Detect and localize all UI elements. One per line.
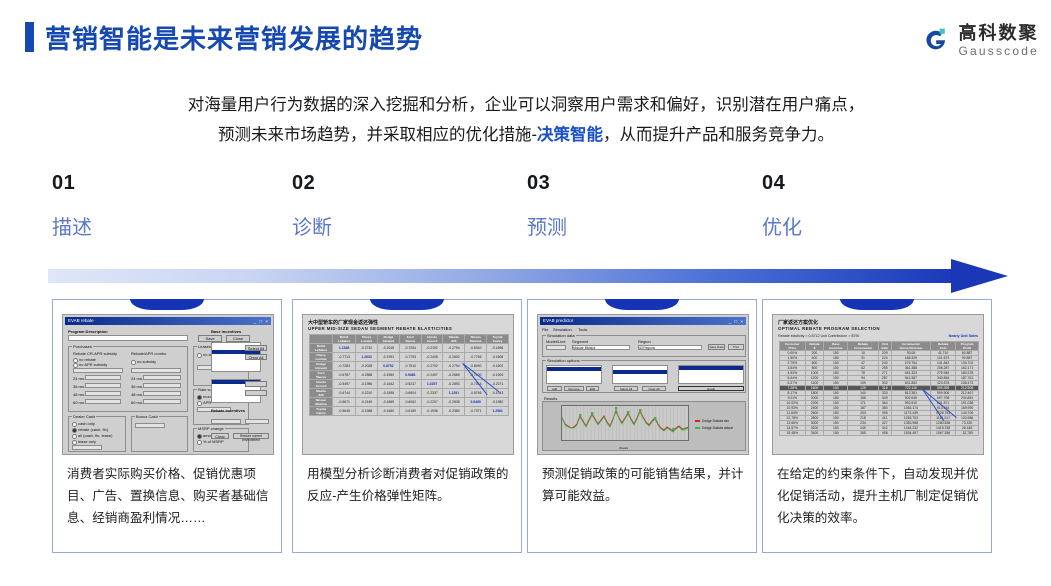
radio-label[interactable]: rebate (cash, fin) xyxy=(78,427,108,432)
matrix-subtitle: UPPER MID-SIZE SEDAN SEGMENT REBATE ELAS… xyxy=(308,326,452,331)
gausscode-logo-icon xyxy=(921,25,951,55)
logo-text-cn: 高科数聚 xyxy=(958,24,1039,42)
group-label: Model/Line xyxy=(546,339,566,344)
step-label: 优化 xyxy=(762,211,962,240)
rate-label: 36 mo. xyxy=(131,384,143,389)
group-label: Rebate incentives xyxy=(211,408,245,413)
clear-all-button-2[interactable] xyxy=(245,390,267,396)
group-label: MSRP change xyxy=(197,426,225,431)
card-caption: 预测促销政策的可能销售结果，并计算可能效益。 xyxy=(542,463,744,507)
correlation-footnote: (Correlation = 0.96386) xyxy=(548,454,583,455)
card-tab xyxy=(130,299,204,310)
remove-button[interactable]: Remove xyxy=(564,386,584,391)
legend-item-actual: Dodge Dakota actual xyxy=(695,426,733,430)
progress-arrow-head xyxy=(951,259,1008,293)
step-label: 描述 xyxy=(52,211,252,240)
logo-text-en: Gausscode xyxy=(958,45,1039,57)
step-02: 02 诊断 xyxy=(292,172,492,240)
rate-label: 24 mo. xyxy=(131,376,143,381)
prediction-plot xyxy=(561,405,689,441)
add-button[interactable]: Add xyxy=(547,386,562,391)
brand-logo: 高科数聚 Gausscode xyxy=(921,18,1039,62)
lead-line-2-b: ，从而提升产品和服务竞争力。 xyxy=(603,126,834,144)
group-label: Region xyxy=(638,339,651,344)
graph-button[interactable]: Graph xyxy=(678,386,744,391)
step-04: 04 优化 xyxy=(762,172,962,240)
card-caption: 在给定的约束条件下，自动发现并优化促销活动，提升主机厂制定促销优化决策的效率。 xyxy=(777,463,979,529)
menu-simulation[interactable]: Simulation xyxy=(553,327,572,332)
progress-arrow xyxy=(48,262,1008,292)
group-label: Rebate/APR combo xyxy=(131,351,166,356)
step-label: 诊断 xyxy=(292,211,492,240)
matrix-title: 大中型轿车的厂家现金返还弹性 xyxy=(308,319,378,326)
save-data-button[interactable]: Save Data xyxy=(708,344,725,350)
results-list[interactable] xyxy=(678,365,744,384)
step-03: 03 预测 xyxy=(527,172,727,240)
group-label: Simulation options xyxy=(546,358,581,363)
group-label: Program Description xyxy=(68,329,108,334)
lead-paragraph: 对海量用户行为数据的深入挖掘和分析，企业可以洞察用户需求和偏好，识别潜在用户痛点… xyxy=(50,90,1002,150)
card-screenshot-chart: EVAB predictor_ □ × File Simulation Tool… xyxy=(537,314,749,455)
clear-all-button[interactable]: Clear All xyxy=(245,354,267,360)
card-tab xyxy=(605,299,679,310)
group-label: Dealer Cash xyxy=(72,414,96,419)
optimal-meta-left: Rebate elasticity = 0.8712 Unit Contribu… xyxy=(778,334,859,338)
optimal-subtitle: OPTIMAL REBATE PROGRAM SELECTION xyxy=(778,326,880,331)
optimal-rebate-table: CustomerPriceRebate$BaseIncentiveRebateI… xyxy=(779,341,979,436)
card-tab xyxy=(840,299,914,310)
edit-button[interactable]: Edit xyxy=(586,386,599,391)
region-value: All Regions xyxy=(639,346,655,350)
rate-label: 48 mo. xyxy=(131,392,143,397)
group-label: Segment xyxy=(572,339,588,344)
card-screenshot-matrix: 大中型轿车的厂家现金返还弹性 UPPER MID-SIZE SEDAN SEGM… xyxy=(302,314,514,455)
chart-xlabel: Weeks xyxy=(619,446,628,450)
window-title: EVAB rebate xyxy=(68,318,94,323)
menu-tools[interactable]: Tools xyxy=(578,327,587,332)
group-label: Bonus Cash xyxy=(135,414,159,419)
clear-button[interactable]: Clear xyxy=(211,433,229,439)
card-04[interactable]: 厂家返还方案优化 OPTIMAL REBATE PROGRAM SELECTIO… xyxy=(762,299,992,553)
radio-label[interactable]: no subsidy xyxy=(137,359,156,364)
step-number: 01 xyxy=(52,172,252,195)
restore-button[interactable]: Restore current environment xyxy=(233,433,269,439)
simulation-list[interactable] xyxy=(546,365,602,384)
window-controls: _ □ × xyxy=(729,318,744,325)
step-number: 02 xyxy=(292,172,492,195)
print-button[interactable]: Print xyxy=(728,344,744,350)
radio-label[interactable]: all (cash, fin, lease) xyxy=(78,433,112,438)
card-02[interactable]: 大中型轿车的厂家现金返还弹性 UPPER MID-SIZE SEDAN SEGM… xyxy=(292,299,522,553)
lead-line-1: 对海量用户行为数据的深入挖掘和分析，企业可以洞察用户需求和偏好，识别潜在用户痛点… xyxy=(188,96,865,114)
card-screenshot-optimal: 厂家返还方案优化 OPTIMAL REBATE PROGRAM SELECTIO… xyxy=(772,314,984,455)
group-label: Rebate CR-APR subsidy xyxy=(73,351,117,356)
card-screenshot-dialog: EVAB rebate_ □ × Program Description Sav… xyxy=(62,314,274,455)
group-label: Base incentives xyxy=(211,329,241,334)
rate-label: 48 mo. xyxy=(73,392,85,397)
page-title: 营销智能是未来营销发展的趋势 xyxy=(45,19,423,56)
progress-arrow-bar xyxy=(48,269,960,283)
lead-line-2-a: 预测未来市场趋势，并采取相应的优化措施- xyxy=(218,126,537,144)
slide-header: 营销智能是未来营销发展的趋势 高科数聚 Gausscode xyxy=(0,0,1051,72)
step-labels: 01 描述 02 诊断 03 预测 04 优化 xyxy=(0,172,1051,252)
options-list[interactable] xyxy=(612,365,668,384)
slide: 营销智能是未来营销发展的趋势 高科数聚 Gausscode 对海量用户行为数据的… xyxy=(0,0,1051,586)
segment-value: Midsize Midsize xyxy=(573,346,596,350)
radio-label[interactable]: cash only xyxy=(78,421,95,426)
rate-label: 36 mo. xyxy=(73,384,85,389)
rate-label: 60 mo. xyxy=(131,400,143,405)
group-label: Purchases xyxy=(72,344,93,349)
select-all-button-2[interactable] xyxy=(245,381,267,387)
card-caption: 消费者实际购买价格、促销优惠项目、广告、置换信息、购买者基础信息、经销商盈利情况… xyxy=(67,463,269,529)
title-accent-bar xyxy=(25,22,34,52)
clear-all-button[interactable]: Clear All xyxy=(642,386,666,391)
card-caption: 用模型分析诊断消费者对促销政策的反应-产生价格弹性矩阵。 xyxy=(307,463,509,507)
lead-highlight: 决策智能 xyxy=(537,126,603,144)
optimal-title: 厂家返还方案优化 xyxy=(778,319,818,326)
close-button[interactable]: Close xyxy=(226,335,250,342)
rate-label: 24 mo. xyxy=(73,376,85,381)
step-number: 04 xyxy=(762,172,962,195)
group-label: Simulation data xyxy=(546,333,576,338)
card-tab xyxy=(370,299,444,310)
radio-label[interactable]: % of MSRP xyxy=(203,439,224,444)
radio-label[interactable]: no APR subsidy xyxy=(79,362,107,367)
select-all-button[interactable]: Select All xyxy=(245,345,267,351)
step-number: 03 xyxy=(527,172,727,195)
legend-item-sim: Dodge Dakota sim xyxy=(695,419,729,423)
optimal-meta-right: Nearly Unit Sales xyxy=(949,334,978,338)
save-button[interactable]: Save xyxy=(198,335,222,342)
window-title: EVAB predictor xyxy=(543,318,573,323)
select-all-button[interactable]: Select All xyxy=(614,386,638,391)
card-03[interactable]: EVAB predictor_ □ × File Simulation Tool… xyxy=(527,299,757,553)
group-label: Leases xyxy=(197,344,212,349)
radio-label[interactable]: lease only xyxy=(78,439,96,444)
menu-file[interactable]: File xyxy=(542,327,548,332)
step-label: 预测 xyxy=(527,211,727,240)
radio-label[interactable]: APR xyxy=(203,400,211,405)
rate-label: 60 mo. xyxy=(73,400,85,405)
window-controls: _ □ × xyxy=(254,318,269,325)
step-01: 01 描述 xyxy=(52,172,252,240)
card-01[interactable]: EVAB rebate_ □ × Program Description Sav… xyxy=(52,299,282,553)
